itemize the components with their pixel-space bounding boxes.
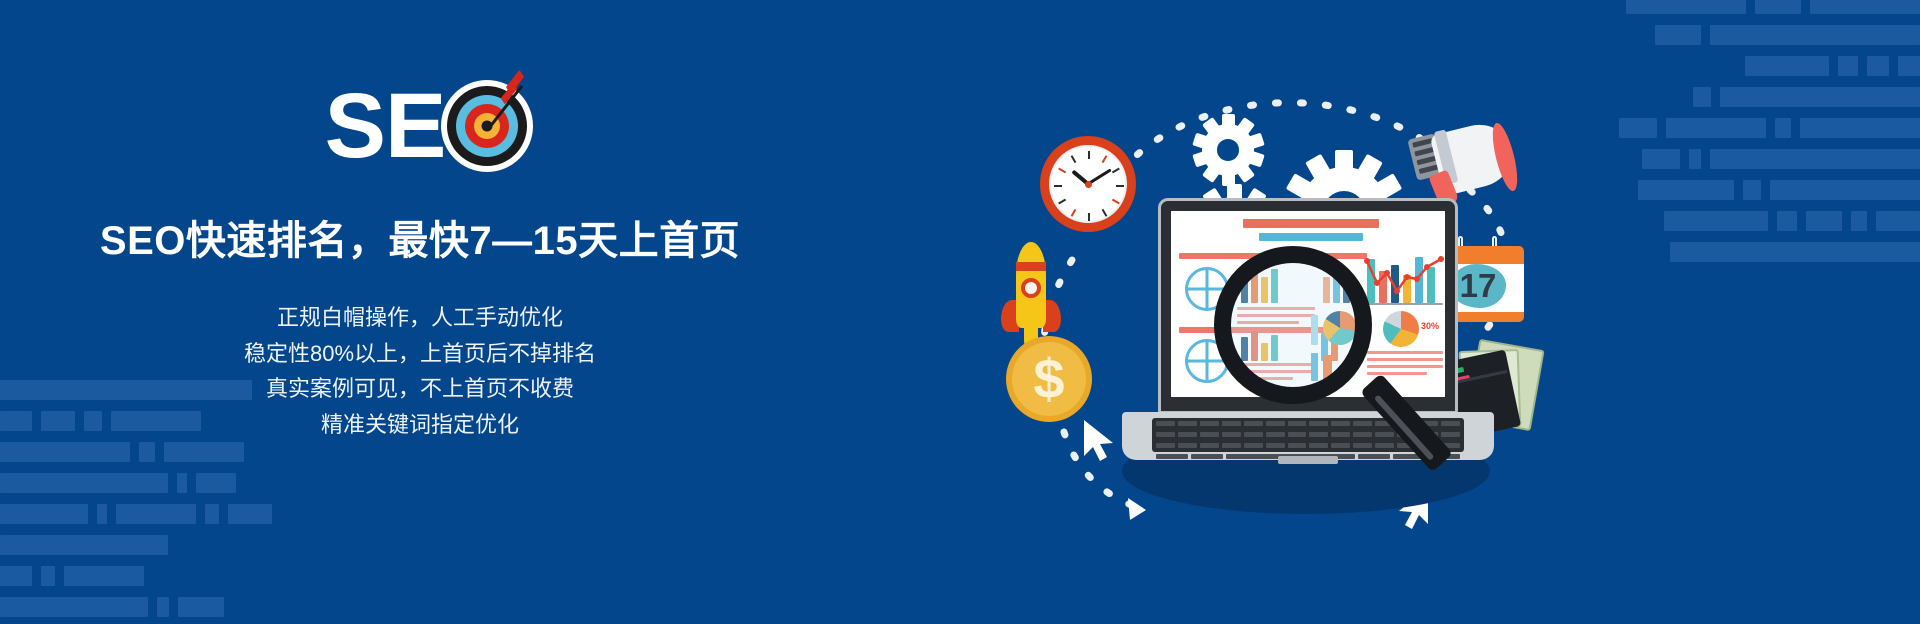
code-pattern-block [1666, 118, 1766, 138]
code-pattern-block [1745, 56, 1829, 76]
seo-illustration: 17 $ $ [1000, 40, 1640, 600]
gear-tooth [1247, 151, 1264, 168]
subline-4: 精准关键词指定优化 [244, 407, 596, 443]
banner-text-column: SE SEO快速排名，最快7—15天上首页 正规白帽操作，人工手动优化 稳定性8… [0, 0, 840, 624]
keyboard-key [1156, 443, 1175, 448]
coin-dollar-symbol: $ [1006, 344, 1092, 414]
clock-tick [1116, 185, 1124, 187]
code-pattern-block [1806, 211, 1842, 231]
keyboard-key [1156, 421, 1175, 426]
code-pattern-block [1720, 87, 1920, 107]
clock-tick [1058, 168, 1066, 174]
code-pattern-block [1867, 56, 1889, 76]
clock-tick [1088, 151, 1090, 159]
code-pattern-block [1770, 180, 1920, 200]
code-pattern-block [1775, 118, 1791, 138]
keyboard-key [1178, 443, 1197, 448]
clock-tick [1071, 209, 1077, 217]
keyboard-key [1178, 432, 1197, 437]
keyboard-key [1156, 432, 1175, 437]
clock-tick [1054, 185, 1062, 187]
gear-tooth [1222, 114, 1235, 128]
subline-3: 真实案例可见，不上首页不收费 [244, 371, 596, 407]
code-pattern-block [1655, 25, 1701, 45]
code-pattern-block [1693, 87, 1711, 107]
clock-tick [1112, 168, 1120, 174]
subline-1: 正规白帽操作，人工手动优化 [244, 300, 596, 336]
clock-tick [1071, 155, 1077, 163]
clock-tick [1102, 155, 1108, 163]
banner-headline: SEO快速排名，最快7—15天上首页 [100, 208, 740, 266]
code-pattern-block [1642, 149, 1680, 169]
code-pattern-block [1898, 56, 1920, 76]
seo-logo: SE [325, 78, 534, 174]
keyboard-key [1178, 421, 1197, 426]
code-pattern-block [1755, 0, 1801, 14]
code-pattern-block [1670, 242, 1920, 262]
dollar-coin-icon: $ [1006, 336, 1092, 422]
clock-tick [1058, 199, 1066, 205]
code-pattern-block [1689, 149, 1701, 169]
bullseye-target-icon [441, 80, 533, 172]
code-pattern-block [1638, 180, 1734, 200]
gear-hole [1217, 139, 1239, 161]
subline-2: 稳定性80%以上，上首页后不掉排名 [244, 336, 596, 372]
seo-promo-banner: SE SEO快速排名，最快7—15天上首页 正规白帽操作，人工手动优化 稳定性8… [0, 0, 1920, 624]
code-pattern-block [1710, 25, 1920, 45]
code-pattern-block [1851, 211, 1867, 231]
code-pattern-block [1664, 211, 1768, 231]
code-pattern-block [1838, 56, 1858, 76]
clock-tick [1088, 213, 1090, 221]
code-pattern-block [1710, 149, 1920, 169]
cursor-arrow-icon-left [1080, 418, 1120, 464]
seo-wordmark: SE [325, 80, 446, 172]
banner-sublines: 正规白帽操作，人工手动优化 稳定性80%以上，上首页后不掉排名 真实案例可见，不… [244, 300, 596, 443]
code-pattern-block [1626, 0, 1746, 14]
code-pattern-block [1777, 211, 1797, 231]
gear-small [1192, 114, 1264, 186]
keyboard-key [1156, 454, 1188, 459]
magnifying-glass-icon [1214, 246, 1454, 496]
gear-tooth [1335, 150, 1353, 170]
code-pattern-block [1743, 180, 1761, 200]
code-pattern-block [1810, 0, 1920, 14]
code-pattern-block [1876, 211, 1920, 231]
code-pattern-row [1550, 0, 1920, 14]
clock-tick [1102, 209, 1108, 217]
code-pattern-block [1800, 118, 1920, 138]
